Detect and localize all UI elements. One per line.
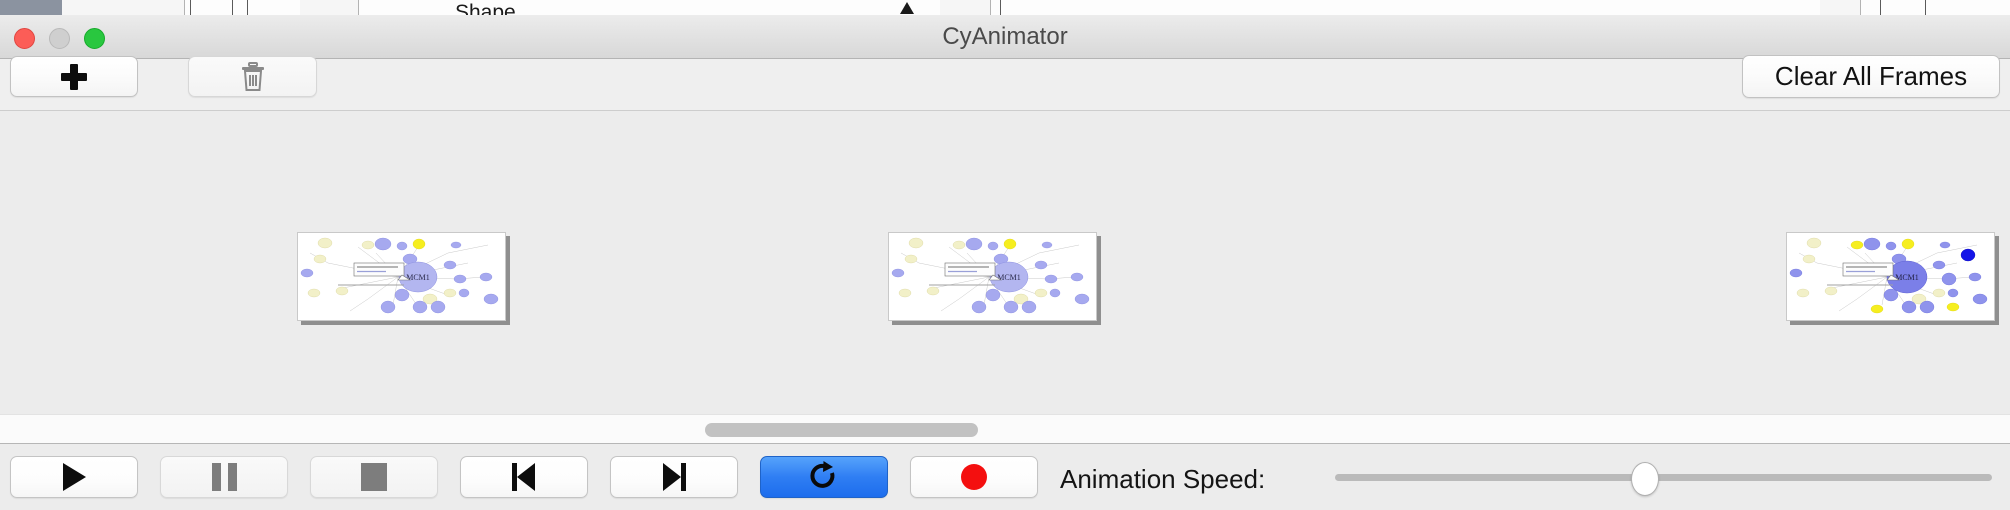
record-button[interactable] [910, 456, 1038, 498]
bg-divider [190, 0, 191, 15]
slider-track[interactable] [1335, 474, 1992, 481]
timeline-frame[interactable]: MCM1 [888, 232, 1101, 325]
animation-speed-label: Animation Speed: [1060, 464, 1265, 495]
svg-text:MCM1: MCM1 [1895, 273, 1919, 282]
bg-divider [247, 0, 248, 15]
bg-window-label: Shape [455, 1, 516, 15]
title-bar[interactable]: CyAnimator [0, 15, 2010, 59]
plus-icon [61, 64, 87, 90]
frame-thumbnail: MCM1 [297, 232, 506, 321]
delete-frame-button[interactable] [188, 56, 317, 97]
stop-button[interactable] [310, 456, 438, 498]
minimize-button[interactable] [49, 28, 70, 49]
skip-back-icon [512, 463, 536, 491]
svg-text:MCM1: MCM1 [997, 273, 1021, 282]
timeline-frame[interactable]: MCM1 [297, 232, 510, 325]
bg-triangle-icon [900, 2, 914, 14]
bg-window-chunk [62, 0, 145, 15]
add-frame-button[interactable] [10, 56, 138, 97]
frame-thumbnail: MCM1 [888, 232, 1097, 321]
timeline-scrollbar[interactable] [0, 414, 2010, 444]
record-icon [961, 464, 987, 490]
skip-forward-icon [662, 463, 686, 491]
bg-window-chunk [940, 0, 991, 15]
maximize-button[interactable] [84, 28, 105, 49]
timeline-panel[interactable]: MCM1 [0, 111, 2010, 414]
bg-divider [1880, 0, 1881, 15]
skip-forward-button[interactable] [610, 456, 738, 498]
play-icon [63, 463, 86, 491]
loop-button[interactable] [760, 456, 888, 498]
bg-divider [232, 0, 233, 15]
window-title: CyAnimator [0, 15, 2010, 59]
pause-button[interactable] [160, 456, 288, 498]
bg-divider [1000, 0, 1001, 15]
network-graph-thumbnail: MCM1 [1787, 233, 1994, 320]
bg-window-chunk [144, 0, 185, 15]
pause-icon [212, 463, 237, 491]
bg-window-chunk [300, 0, 359, 15]
scrollbar-thumb[interactable] [705, 423, 978, 437]
network-graph-thumbnail: MCM1 [298, 233, 505, 320]
stop-icon [361, 463, 387, 491]
background-windows-strip: Shape [0, 0, 2010, 16]
skip-back-button[interactable] [460, 456, 588, 498]
loop-icon [809, 461, 839, 493]
play-button[interactable] [10, 456, 138, 498]
bg-window-chunk [0, 0, 63, 15]
bg-divider [1925, 0, 1926, 15]
animation-speed-slider[interactable] [1335, 456, 1992, 498]
svg-text:MCM1: MCM1 [406, 273, 430, 282]
bg-window-chunk [1820, 0, 1861, 15]
trash-icon [240, 62, 266, 92]
cyanimator-window: Shape CyAnimator Clear All Frames [0, 0, 2010, 510]
playback-bar: Animation Speed: [0, 444, 2010, 510]
clear-all-frames-button[interactable]: Clear All Frames [1742, 55, 2000, 98]
network-graph-thumbnail: MCM1 [889, 233, 1096, 320]
frame-thumbnail: MCM1 [1786, 232, 1995, 321]
close-button[interactable] [14, 28, 35, 49]
slider-thumb[interactable] [1631, 462, 1659, 496]
timeline-frame[interactable]: MCM1 [1786, 232, 1999, 325]
clear-all-frames-label: Clear All Frames [1775, 61, 1967, 92]
